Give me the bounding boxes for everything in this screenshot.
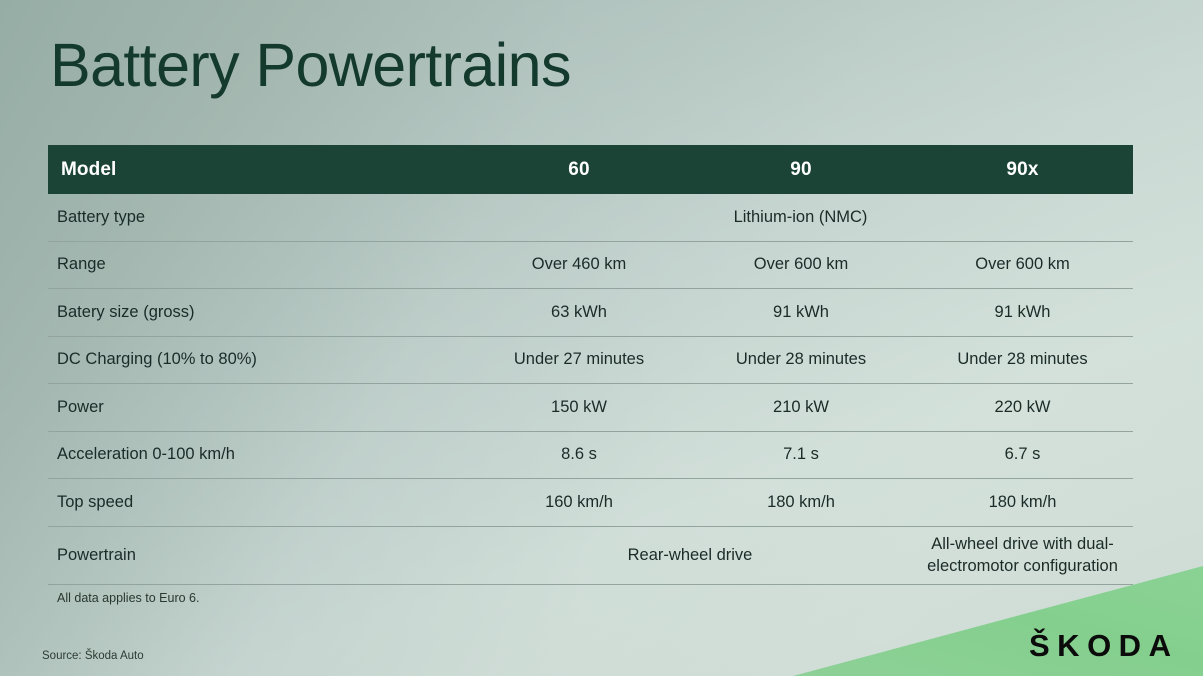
page-title: Battery Powertrains [50, 31, 571, 99]
row-value-90: Under 28 minutes [690, 336, 912, 384]
column-header-90: 90 [690, 145, 912, 194]
skoda-logo: ŠKODA [1029, 630, 1178, 661]
row-value-90x: Over 600 km [912, 241, 1133, 289]
row-value-60: 8.6 s [468, 431, 690, 479]
table-header-row: Model 60 90 90x [48, 145, 1133, 194]
row-value-90x: 6.7 s [912, 431, 1133, 479]
row-value-90: Over 600 km [690, 241, 912, 289]
row-label: Battery type [48, 194, 468, 241]
row-value-90: 7.1 s [690, 431, 912, 479]
footnote-text: All data applies to Euro 6. [57, 591, 199, 605]
column-header-90x: 90x [912, 145, 1133, 194]
row-label: Range [48, 241, 468, 289]
row-value-90x: 180 km/h [912, 479, 1133, 527]
table-row: Powertrain Rear-wheel drive All-wheel dr… [48, 526, 1133, 584]
table-row: Range Over 460 km Over 600 km Over 600 k… [48, 241, 1133, 289]
row-label: Power [48, 384, 468, 432]
table-header: Model 60 90 90x [48, 145, 1133, 194]
column-header-model: Model [48, 145, 468, 194]
row-value-60: Over 460 km [468, 241, 690, 289]
row-value-60: Under 27 minutes [468, 336, 690, 384]
table-row: Battery type Lithium-ion (NMC) [48, 194, 1133, 241]
row-value-60: 150 kW [468, 384, 690, 432]
table-body: Battery type Lithium-ion (NMC) Range Ove… [48, 194, 1133, 584]
row-value-60: 160 km/h [468, 479, 690, 527]
column-header-60: 60 [468, 145, 690, 194]
spec-table-grid: Model 60 90 90x Battery type Lithium-ion… [48, 145, 1133, 585]
source-text: Source: Škoda Auto [42, 650, 144, 662]
table-row: Top speed 160 km/h 180 km/h 180 km/h [48, 479, 1133, 527]
row-value-90x: 220 kW [912, 384, 1133, 432]
row-label: DC Charging (10% to 80%) [48, 336, 468, 384]
battery-powertrains-table: Model 60 90 90x Battery type Lithium-ion… [48, 145, 1133, 585]
row-label: Powertrain [48, 526, 468, 584]
row-label: Batery size (gross) [48, 289, 468, 337]
row-label: Acceleration 0-100 km/h [48, 431, 468, 479]
row-value-90: 91 kWh [690, 289, 912, 337]
row-value-all: Lithium-ion (NMC) [468, 194, 1133, 241]
row-value-60: 63 kWh [468, 289, 690, 337]
table-row: DC Charging (10% to 80%) Under 27 minute… [48, 336, 1133, 384]
row-label: Top speed [48, 479, 468, 527]
table-row: Power 150 kW 210 kW 220 kW [48, 384, 1133, 432]
table-row: Batery size (gross) 63 kWh 91 kWh 91 kWh [48, 289, 1133, 337]
row-value-60-90: Rear-wheel drive [468, 526, 912, 584]
row-value-90: 180 km/h [690, 479, 912, 527]
row-value-90x: All-wheel drive with dual-electromotor c… [912, 526, 1133, 584]
slide-canvas: Battery Powertrains Model 60 90 90x Batt… [0, 0, 1203, 676]
row-value-90: 210 kW [690, 384, 912, 432]
row-value-90x: 91 kWh [912, 289, 1133, 337]
table-row: Acceleration 0-100 km/h 8.6 s 7.1 s 6.7 … [48, 431, 1133, 479]
row-value-90x: Under 28 minutes [912, 336, 1133, 384]
